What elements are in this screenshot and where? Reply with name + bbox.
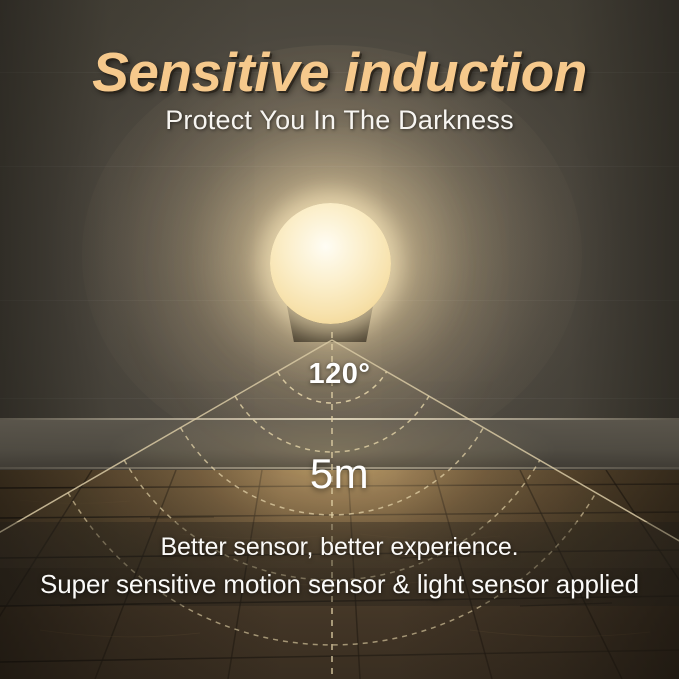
product-marketing-image: Sensitive induction Protect You In The D… [0,0,679,679]
lamp-globe [270,203,391,324]
caption-line-2: Super sensitive motion sensor & light se… [0,569,679,600]
page-headline: Sensitive induction [0,40,679,104]
detection-distance-label: 5m [0,450,679,498]
caption-line-1: Better sensor, better experience. [0,533,679,562]
baseboard-trim-line [0,418,679,420]
detection-angle-label: 120° [0,358,679,391]
page-subheadline: Protect You In The Darkness [0,105,679,136]
